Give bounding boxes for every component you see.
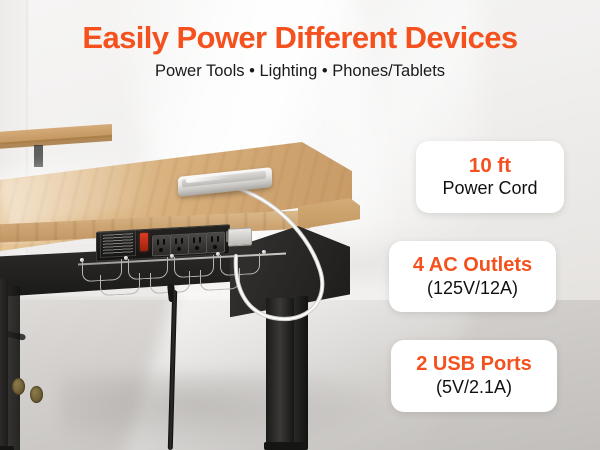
ac-outlet[interactable] bbox=[170, 233, 189, 255]
outlet-slot bbox=[211, 236, 213, 242]
callout-subtitle: (5V/2.1A) bbox=[436, 378, 512, 398]
callout-card-power-cord: 10 ft Power Cord bbox=[416, 141, 564, 213]
tool-hook bbox=[100, 273, 140, 296]
outlet-slot bbox=[157, 239, 159, 245]
callout-card-ac-outlets: 4 AC Outlets (125V/12A) bbox=[389, 241, 556, 312]
callout-title: 2 USB Ports bbox=[416, 354, 532, 375]
callout-title: 4 AC Outlets bbox=[413, 255, 532, 276]
callout-subtitle: (125V/12A) bbox=[427, 279, 518, 299]
white-usb-charging-cable bbox=[220, 178, 400, 338]
callout-card-usb-ports: 2 USB Ports (5V/2.1A) bbox=[391, 340, 557, 412]
frame-grommet-hole bbox=[12, 378, 25, 395]
power-switch[interactable] bbox=[140, 233, 148, 251]
outlet-ground bbox=[195, 246, 199, 250]
hook-screw bbox=[170, 254, 174, 258]
product-banner: Easily Power Different Devices Power Too… bbox=[0, 0, 600, 450]
outlet-slot bbox=[181, 238, 183, 244]
callout-subtitle: Power Cord bbox=[442, 179, 537, 199]
outlet-slot bbox=[217, 236, 219, 242]
page-title: Easily Power Different Devices bbox=[0, 22, 600, 53]
ac-outlet[interactable] bbox=[152, 234, 171, 256]
outlet-slot bbox=[175, 238, 177, 244]
bench-foot-left bbox=[0, 446, 14, 450]
outlet-ground bbox=[159, 248, 163, 252]
outlet-ground bbox=[213, 245, 217, 249]
bench-foot-right bbox=[264, 442, 308, 450]
power-strip-label bbox=[100, 230, 136, 258]
outlet-slot bbox=[163, 239, 165, 245]
outlet-slot bbox=[193, 237, 195, 243]
outlet-slot bbox=[199, 237, 201, 243]
power-strip-label-text bbox=[103, 233, 133, 255]
page-subtitle: Power Tools • Lighting • Phones/Tablets bbox=[0, 62, 600, 80]
outlet-ground bbox=[177, 247, 181, 251]
hook-screw bbox=[80, 258, 84, 262]
callout-title: 10 ft bbox=[469, 155, 511, 177]
bench-leg-left bbox=[0, 277, 8, 450]
hook-screw bbox=[124, 256, 128, 260]
frame-grommet-hole bbox=[30, 386, 43, 403]
ac-outlet[interactable] bbox=[188, 232, 207, 254]
bench-leg-left-inner bbox=[8, 286, 20, 450]
